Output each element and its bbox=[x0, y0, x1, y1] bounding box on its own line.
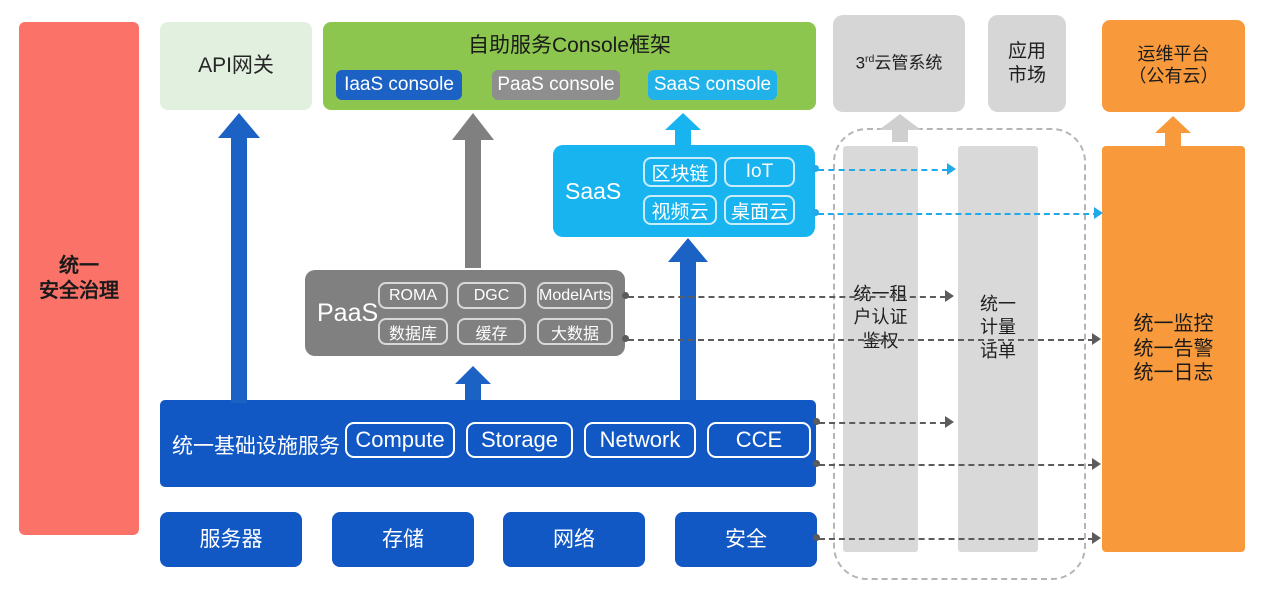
infra-chip-compute-label: Compute bbox=[355, 427, 444, 453]
paas-chip-cache[interactable]: 缓存 bbox=[457, 318, 526, 345]
ops-platform-line-2: （公有云） bbox=[1129, 66, 1219, 88]
unified-tenant-auth-label: 统一租 户认证 鉴权 bbox=[843, 283, 918, 353]
app-market-line-1: 应用 bbox=[1008, 40, 1046, 63]
ops-monitoring-column: 统一监控 统一告警 统一日志 bbox=[1102, 146, 1245, 552]
saas-to-ops-dashed-line bbox=[818, 213, 1099, 215]
architecture-diagram: 统一 安全治理 API网关 自助服务Console框架 IaaS console… bbox=[0, 0, 1265, 605]
auth-line-2: 户认证 bbox=[843, 306, 918, 329]
saas-chip-video-cloud-label: 视频云 bbox=[651, 197, 708, 224]
paas-to-ops-arrowhead bbox=[1092, 333, 1101, 345]
paas-chip-cache-label: 缓存 bbox=[475, 320, 507, 344]
infra-to-ops-dashed-line bbox=[819, 464, 1094, 466]
app-market-label: 应用 市场 bbox=[1008, 40, 1046, 86]
paas-to-auth-arrowhead bbox=[945, 290, 954, 302]
auth-line-3: 鉴权 bbox=[843, 330, 918, 353]
unified-infrastructure-label: 统一基础设施服务 bbox=[172, 430, 340, 460]
paas-chip-roma-label: ROMA bbox=[389, 287, 437, 305]
unified-security-governance-label: 统一 安全治理 bbox=[39, 254, 119, 303]
paas-layer-label: PaaS bbox=[317, 299, 378, 328]
saas-chip-desktop-cloud-label: 桌面云 bbox=[731, 197, 788, 224]
ops-monitoring-line-3: 统一日志 bbox=[1134, 361, 1214, 385]
hardware-to-ops-dashed-line bbox=[819, 538, 1094, 540]
arrow-up-infra-to-saas bbox=[668, 238, 708, 400]
hardware-tile-storage[interactable]: 存储 bbox=[332, 512, 474, 567]
saas-to-auth-dashed-line bbox=[818, 169, 948, 171]
saas-layer-label: SaaS bbox=[565, 178, 621, 205]
paas-chip-database-label: 数据库 bbox=[389, 320, 437, 344]
infra-to-ops-arrowhead bbox=[1092, 458, 1101, 470]
infra-chip-cce[interactable]: CCE bbox=[707, 422, 811, 458]
api-gateway-label: API网关 bbox=[198, 53, 274, 79]
paas-chip-database[interactable]: 数据库 bbox=[378, 318, 448, 345]
arrow-up-saas-to-saas-console bbox=[665, 113, 701, 147]
paas-chip-modelarts[interactable]: ModelArts bbox=[537, 282, 613, 309]
arrow-up-shared-to-third-party bbox=[879, 114, 921, 142]
third-party-cloud-mgmt-box: 3rd云管系统 bbox=[833, 15, 965, 112]
paas-chip-bigdata-label: 大数据 bbox=[551, 320, 599, 344]
ops-monitoring-line-2: 统一告警 bbox=[1134, 337, 1214, 361]
saas-console-label: SaaS console bbox=[654, 74, 771, 96]
saas-chip-blockchain-label: 区块链 bbox=[651, 159, 708, 186]
ops-monitoring-label: 统一监控 统一告警 统一日志 bbox=[1134, 312, 1214, 385]
saas-chip-iot[interactable]: IoT bbox=[724, 157, 795, 187]
paas-console-label: PaaS console bbox=[497, 74, 614, 96]
saas-to-ops-arrowhead bbox=[1094, 207, 1103, 219]
unified-security-governance-panel: 统一 安全治理 bbox=[19, 22, 139, 535]
infra-to-auth-dashed-line bbox=[819, 422, 946, 424]
hardware-tile-network[interactable]: 网络 bbox=[503, 512, 645, 567]
third-party-prefix: 3 bbox=[856, 53, 865, 72]
infra-chip-storage[interactable]: Storage bbox=[466, 422, 573, 458]
auth-line-1: 统一租 bbox=[843, 283, 918, 306]
third-party-suffix: 云管系统 bbox=[874, 53, 942, 72]
paas-chip-modelarts-label: ModelArts bbox=[539, 287, 611, 305]
arrow-up-paas-to-console bbox=[452, 113, 494, 268]
hardware-tile-server[interactable]: 服务器 bbox=[160, 512, 302, 567]
saas-chip-video-cloud[interactable]: 视频云 bbox=[643, 195, 717, 225]
saas-chip-blockchain[interactable]: 区块链 bbox=[643, 157, 717, 187]
infra-to-auth-arrowhead bbox=[945, 416, 954, 428]
paas-chip-roma[interactable]: ROMA bbox=[378, 282, 448, 309]
paas-chip-dgc-label: DGC bbox=[474, 287, 510, 305]
billing-line-2: 计量 bbox=[958, 316, 1038, 339]
iaas-console-label: IaaS console bbox=[344, 74, 454, 96]
ops-monitoring-line-1: 统一监控 bbox=[1134, 312, 1214, 336]
arrow-up-infra-to-api-gateway bbox=[218, 113, 260, 403]
ops-platform-box: 运维平台 （公有云） bbox=[1102, 20, 1245, 112]
self-service-console-title: 自助服务Console框架 bbox=[323, 29, 816, 59]
hardware-tile-network-label: 网络 bbox=[553, 527, 595, 553]
paas-console-chip[interactable]: PaaS console bbox=[492, 70, 620, 100]
hardware-tile-security[interactable]: 安全 bbox=[675, 512, 817, 567]
billing-line-1: 统一 bbox=[958, 293, 1038, 316]
app-market-line-2: 市场 bbox=[1008, 64, 1046, 87]
hardware-to-ops-arrowhead bbox=[1092, 532, 1101, 544]
app-market-box: 应用 市场 bbox=[988, 15, 1066, 112]
saas-console-chip[interactable]: SaaS console bbox=[648, 70, 777, 100]
api-gateway-box: API网关 bbox=[160, 22, 312, 110]
arrow-up-infra-to-paas bbox=[455, 366, 491, 400]
paas-chip-dgc[interactable]: DGC bbox=[457, 282, 526, 309]
saas-chip-desktop-cloud[interactable]: 桌面云 bbox=[724, 195, 795, 225]
paas-to-auth-dashed-line bbox=[628, 296, 946, 298]
ops-platform-label: 运维平台 （公有云） bbox=[1129, 44, 1219, 88]
third-party-cloud-mgmt-label: 3rd云管系统 bbox=[856, 53, 943, 74]
saas-to-auth-arrowhead bbox=[947, 163, 956, 175]
iaas-console-chip[interactable]: IaaS console bbox=[336, 70, 462, 100]
hardware-tile-server-label: 服务器 bbox=[200, 527, 263, 553]
billing-line-3: 话单 bbox=[958, 340, 1038, 363]
security-label-line-1: 统一 bbox=[39, 254, 119, 278]
infra-chip-network-label: Network bbox=[600, 427, 681, 453]
infra-chip-cce-label: CCE bbox=[736, 427, 782, 453]
paas-chip-bigdata[interactable]: 大数据 bbox=[537, 318, 613, 345]
infra-chip-compute[interactable]: Compute bbox=[345, 422, 455, 458]
paas-to-ops-dashed-line bbox=[628, 339, 1094, 341]
arrow-up-ops-body-to-ops-platform bbox=[1155, 116, 1191, 148]
infra-chip-network[interactable]: Network bbox=[584, 422, 696, 458]
hardware-tile-storage-label: 存储 bbox=[382, 527, 424, 553]
unified-billing-label: 统一 计量 话单 bbox=[958, 293, 1038, 363]
infra-chip-storage-label: Storage bbox=[481, 427, 558, 453]
hardware-tile-security-label: 安全 bbox=[725, 527, 767, 553]
ops-platform-line-1: 运维平台 bbox=[1129, 44, 1219, 66]
security-label-line-2: 安全治理 bbox=[39, 279, 119, 303]
saas-chip-iot-label: IoT bbox=[746, 161, 773, 183]
